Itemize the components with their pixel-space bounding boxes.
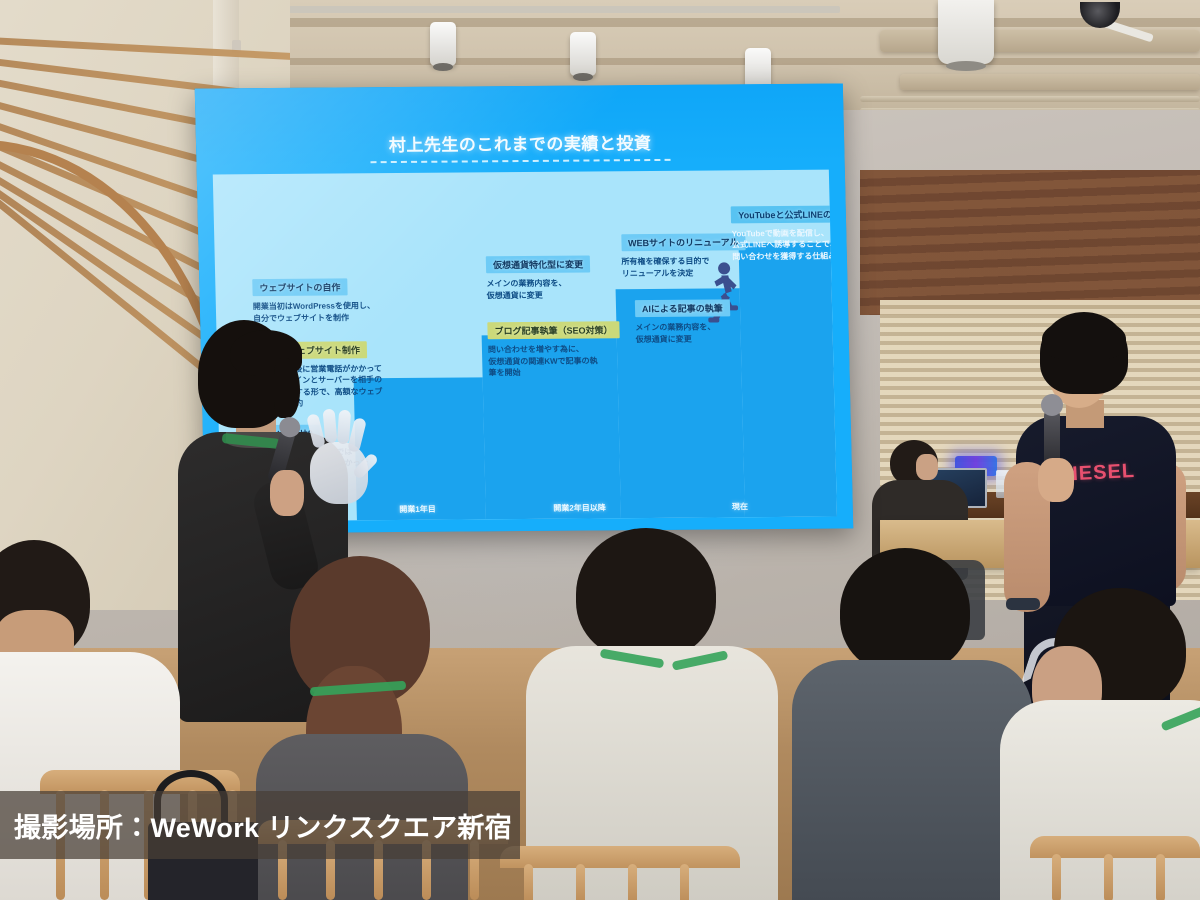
slide-card-youtube: YouTubeと公式LINEの活用 YouTubeで動画を配信し、 公式LINE… [731, 204, 837, 263]
seminar-photo: 村上先生のこれまでの実績と投資 [0, 0, 1200, 900]
wood-ceiling-panel [860, 170, 1200, 315]
card-header: YouTubeと公式LINEの活用 [731, 205, 837, 223]
card-body: 問い合わせを増やす為に、 仮想通貨の関連KWで記事の執 筆を開始 [488, 343, 674, 379]
timeline-label-1: 開業1年目 [399, 504, 436, 515]
chair-3 [500, 846, 740, 900]
card-header: WEBサイトのリニューアル [621, 234, 746, 252]
chair-4 [1030, 836, 1200, 900]
card-header: ブログ記事執筆（SEO対策） [487, 321, 619, 339]
caption-text: 撮影場所：WeWork リンクスクエア新宿 [0, 806, 512, 845]
track-light-icon [430, 22, 456, 66]
card-header: ウェブサイトの自作 [252, 278, 347, 296]
timeline-label-2: 開業2年目以降 [553, 502, 606, 513]
timeline-label-3: 現在 [732, 501, 748, 512]
slide-card-ai: AIによる記事の執筆 メインの業務内容を、 仮想通貨に変更 [635, 298, 790, 345]
card-body: メインの業務内容を、 仮想通貨に変更 [486, 277, 653, 301]
card-body: メインの業務内容を、 仮想通貨に変更 [635, 321, 790, 345]
track-light-icon [570, 32, 596, 76]
raised-hand [288, 430, 384, 510]
audience-member-4 [800, 548, 1020, 900]
caption-bar: 撮影場所：WeWork リンクスクエア新宿 [0, 791, 520, 859]
title-underline [370, 159, 670, 163]
card-header: AIによる記事の執筆 [635, 300, 730, 318]
card-header: 仮想通貨特化型に変更 [486, 256, 590, 274]
slide-card-jisaku: ウェブサイトの自作 開業当初はWordPressを使用し、 自分でウェブサイトを… [252, 276, 475, 324]
stair-step-4 [738, 242, 837, 517]
slide-title: 村上先生のこれまでの実績と投資 [196, 128, 845, 158]
audience-member-3 [540, 528, 760, 900]
projector-icon [938, 0, 994, 64]
card-body: YouTubeで動画を配信し、 公式LINEへ誘導することで、 問い合わせを獲得… [732, 227, 837, 263]
